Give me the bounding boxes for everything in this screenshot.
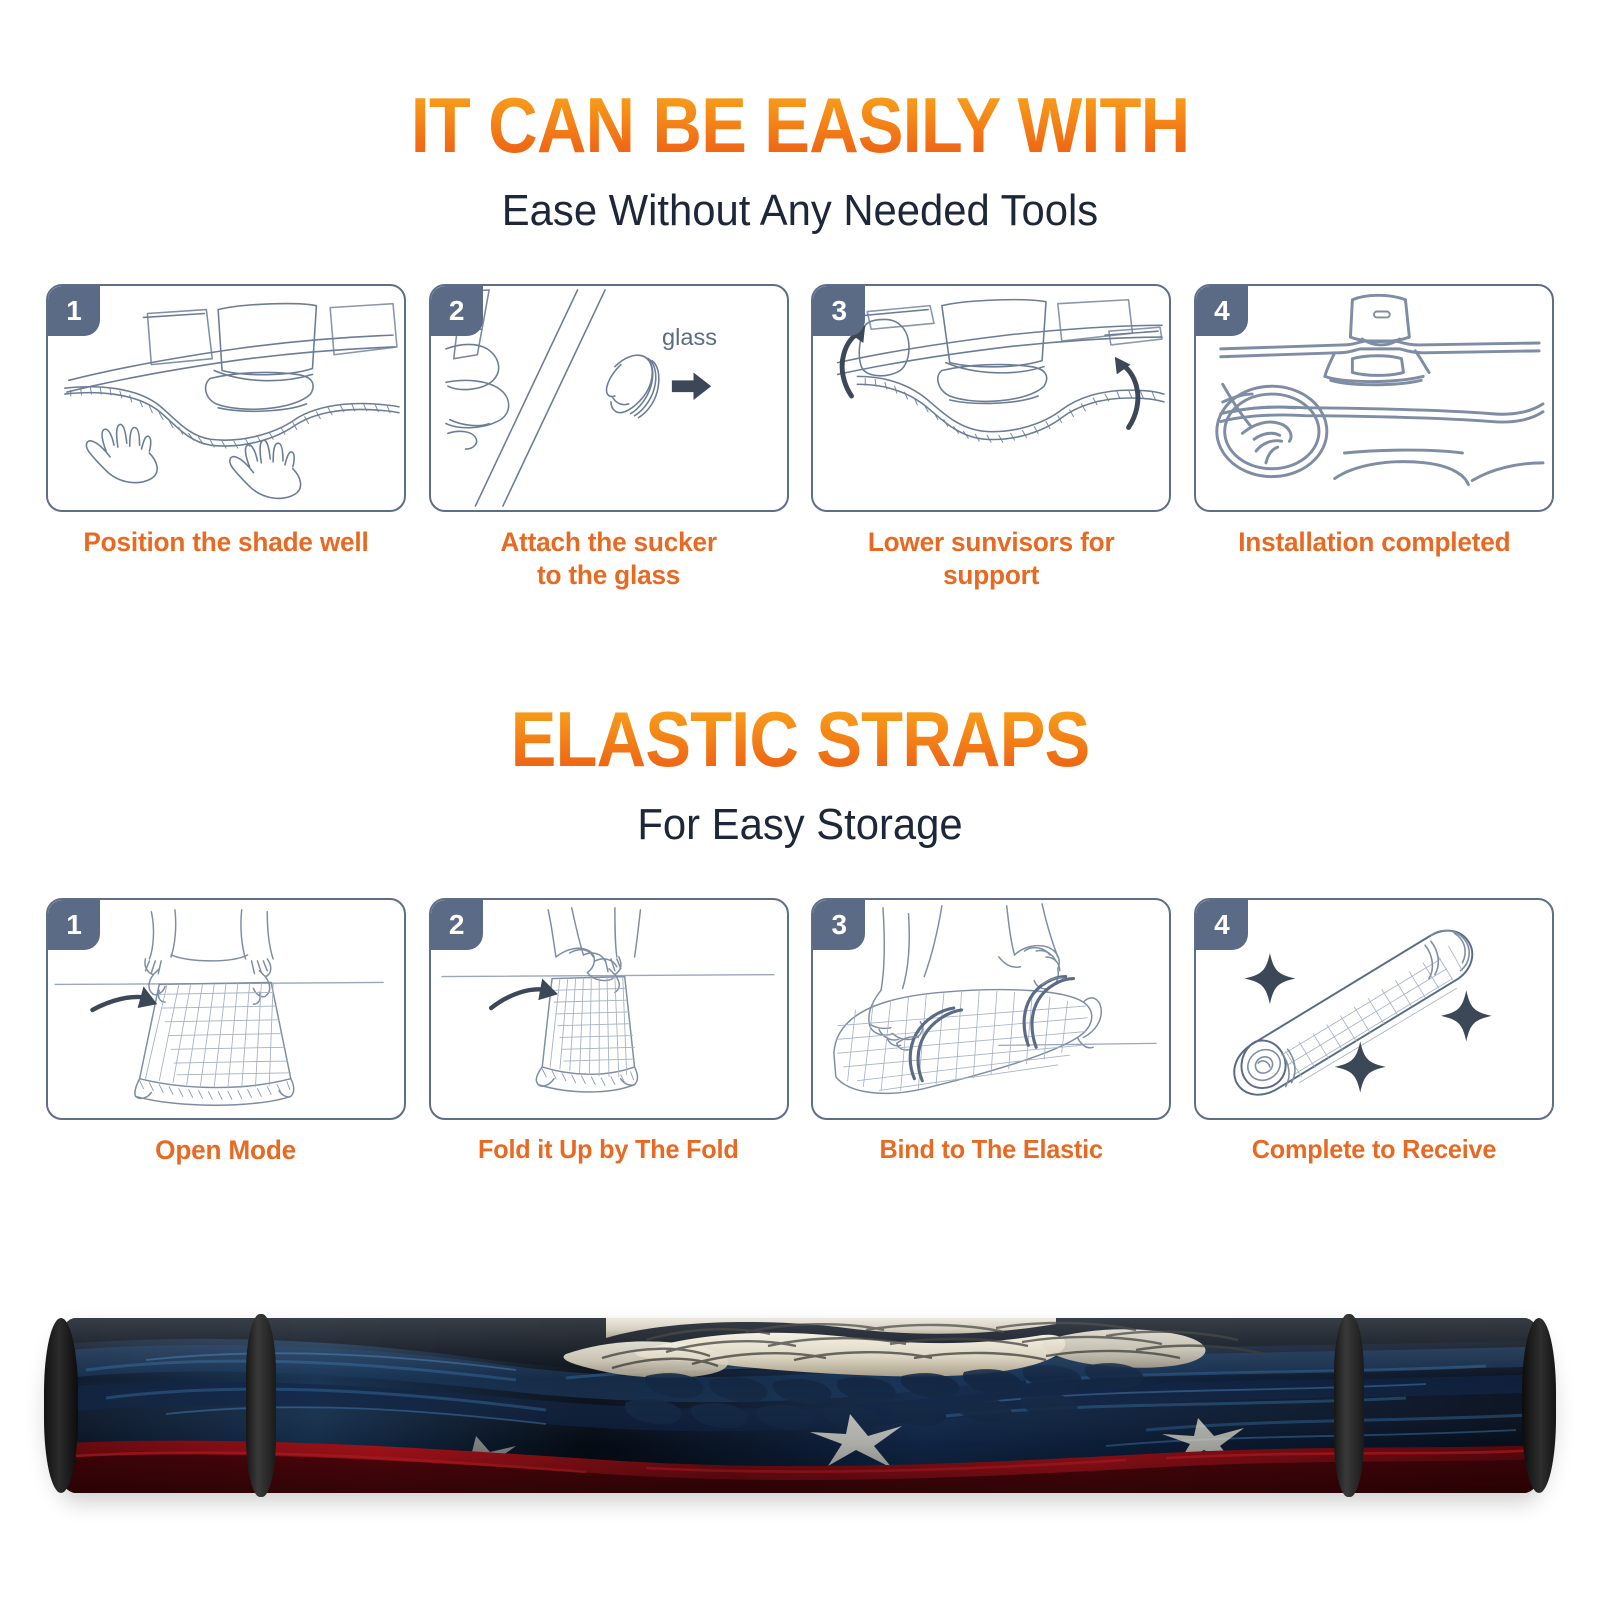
install-step-1-panel: 1 xyxy=(46,284,406,512)
install-steps-row: 1 xyxy=(0,284,1600,592)
storage-step-3-caption: Bind to The Elastic xyxy=(880,1134,1103,1166)
install-step-3[interactable]: 3 xyxy=(811,284,1171,592)
storage-step-4[interactable]: 4 xyxy=(1194,898,1554,1167)
step-number-badge: 1 xyxy=(48,286,100,336)
install-step-2[interactable]: 2 glass xyxy=(429,284,789,592)
glass-label: glass xyxy=(662,324,717,350)
roll-end-cap-left xyxy=(44,1318,78,1493)
sunvisors-illustration xyxy=(813,286,1169,510)
storage-step-3[interactable]: 3 xyxy=(811,898,1171,1167)
storage-step-4-panel: 4 xyxy=(1194,898,1554,1120)
elastic-strap xyxy=(1334,1314,1364,1497)
step-number-badge: 3 xyxy=(813,900,865,950)
sucker-glass-illustration: glass xyxy=(431,286,787,510)
storage-section-header: ELASTIC STRAPS For Easy Storage xyxy=(0,700,1600,850)
storage-step-2-panel: 2 xyxy=(429,898,789,1120)
install-subtitle: Ease Without Any Needed Tools xyxy=(40,186,1560,236)
roll-end-cap-right xyxy=(1522,1318,1556,1493)
storage-subtitle: For Easy Storage xyxy=(40,800,1560,850)
install-step-4[interactable]: 4 xyxy=(1194,284,1554,592)
fold-shade-illustration xyxy=(431,900,787,1118)
install-step-4-panel: 4 xyxy=(1194,284,1554,512)
install-step-3-panel: 3 xyxy=(811,284,1171,512)
storage-title: ELASTIC STRAPS xyxy=(96,700,1504,778)
step-number-badge: 4 xyxy=(1196,286,1248,336)
product-photo xyxy=(46,1300,1554,1510)
storage-step-4-caption: Complete to Receive xyxy=(1252,1134,1496,1166)
storage-step-1[interactable]: 1 xyxy=(46,898,406,1167)
storage-step-3-panel: 3 xyxy=(811,898,1171,1120)
install-title: IT CAN BE EASILY WITH xyxy=(96,86,1504,164)
storage-step-1-panel: 1 xyxy=(46,898,406,1120)
install-section-header: IT CAN BE EASILY WITH Ease Without Any N… xyxy=(0,0,1600,236)
bind-elastic-illustration xyxy=(813,900,1169,1118)
install-step-2-panel: 2 glass xyxy=(429,284,789,512)
installed-interior-illustration xyxy=(1196,286,1552,510)
storage-step-2[interactable]: 2 xyxy=(429,898,789,1167)
dashboard-hands-illustration xyxy=(48,286,404,510)
storage-steps-row: 1 xyxy=(0,898,1600,1167)
open-shade-illustration xyxy=(48,900,404,1118)
elastic-strap xyxy=(246,1314,276,1497)
install-step-4-caption: Installation completed xyxy=(1238,526,1510,559)
storage-step-1-caption: Open Mode xyxy=(156,1134,297,1167)
step-number-badge: 4 xyxy=(1196,900,1248,950)
storage-step-2-caption: Fold it Up by The Fold xyxy=(478,1134,739,1166)
step-number-badge: 1 xyxy=(48,900,100,950)
install-step-3-caption: Lower sunvisors for support xyxy=(868,526,1115,592)
step-number-badge: 2 xyxy=(431,286,483,336)
step-number-badge: 2 xyxy=(431,900,483,950)
install-step-1[interactable]: 1 xyxy=(46,284,406,592)
rolled-sparkle-illustration xyxy=(1196,900,1552,1118)
step-number-badge: 3 xyxy=(813,286,865,336)
install-step-1-caption: Position the shade well xyxy=(83,526,368,559)
install-step-2-caption: Attach the sucker to the glass xyxy=(500,526,716,592)
